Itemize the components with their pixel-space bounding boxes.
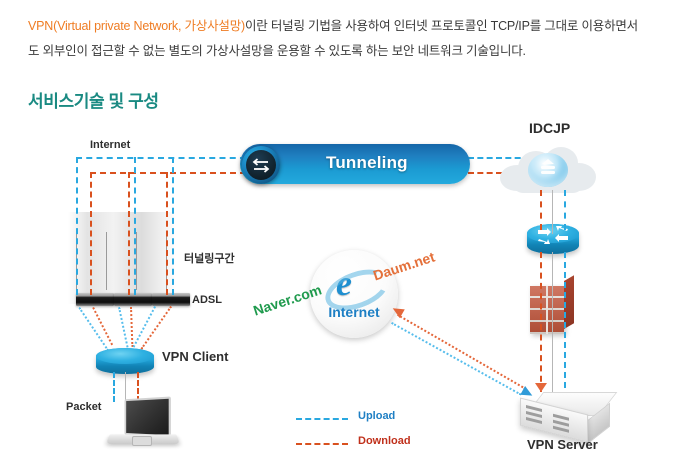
firewall-bricks xyxy=(530,286,564,334)
packet-laptop xyxy=(108,398,178,452)
legend-label-upload: Upload xyxy=(358,410,395,422)
bidirectional-arrows-icon xyxy=(242,146,280,184)
upload-vertical-line xyxy=(564,252,566,398)
intro-paragraph: VPN(Virtual private Network, 가상사설망)이란 터널… xyxy=(28,14,640,64)
download-ray xyxy=(130,307,133,347)
legend-swatch-download xyxy=(296,443,348,445)
connector-vertical-line xyxy=(552,190,553,234)
legend-swatch-upload xyxy=(296,418,348,420)
adsl-modem xyxy=(76,293,114,306)
section-heading: 서비스기술 및 구성 xyxy=(28,87,159,112)
upload-diagonal-line xyxy=(391,322,521,396)
download-arrowhead xyxy=(535,383,547,392)
download-drop-line xyxy=(90,172,92,295)
vpn-client-router xyxy=(96,348,154,374)
core-router xyxy=(527,224,579,254)
intro-highlight: VPN(Virtual private Network, 가상사설망) xyxy=(28,19,245,33)
adsl-modem xyxy=(152,293,190,306)
download-drop-line xyxy=(166,172,168,295)
legend-label-download: Download xyxy=(358,435,411,447)
upload-drop-line xyxy=(76,157,78,295)
upload-vertical-line xyxy=(564,190,566,230)
download-drop-line xyxy=(128,172,130,295)
upload-trunk-line xyxy=(76,157,246,159)
download-trunk-line xyxy=(90,172,246,174)
vpn-client-label: VPN Client xyxy=(162,349,228,364)
download-vertical-line xyxy=(540,252,542,392)
idcjp-label: IDCJP xyxy=(529,120,570,136)
adsl-label: ADSL xyxy=(192,294,222,306)
upload-ray xyxy=(118,307,128,348)
adsl-modem xyxy=(114,293,152,306)
tunnel-zone-label: 터널링구간 xyxy=(184,250,235,266)
internet-label: Internet xyxy=(90,139,130,151)
upload-drop-line xyxy=(134,157,136,295)
download-vertical-line xyxy=(540,190,542,230)
brand-daum: Daum.net xyxy=(371,249,437,284)
idcjp-cloud xyxy=(500,145,596,193)
download-ray xyxy=(141,306,172,350)
packet-label: Packet xyxy=(66,401,101,413)
upload-drop-line xyxy=(172,157,174,295)
tunneling-label: Tunneling xyxy=(326,153,408,173)
download-diagonal-line xyxy=(397,314,526,390)
internet-node-label: Internet xyxy=(310,304,398,320)
vpn-server xyxy=(520,392,612,438)
diagram-page: VPN(Virtual private Network, 가상사설망)이란 터널… xyxy=(0,0,680,474)
vpn-server-label: VPN Server xyxy=(527,437,598,452)
tunnel-zone-panel xyxy=(68,212,176,304)
connector-vertical-line xyxy=(552,252,553,398)
